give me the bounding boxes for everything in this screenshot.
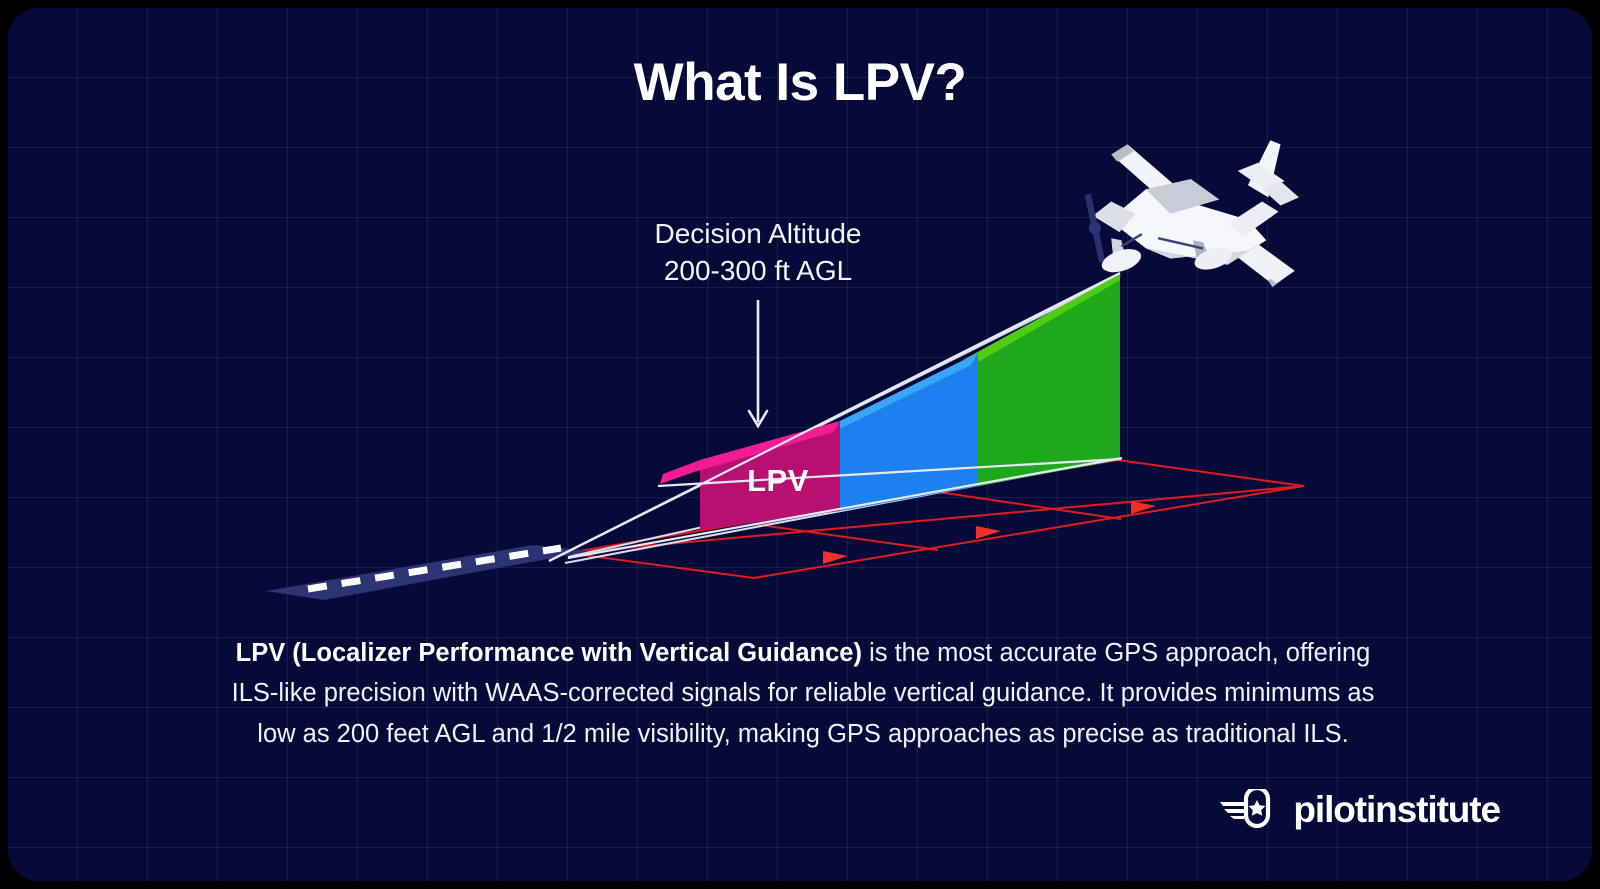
brand-logo-text: pilotinstitute [1293,791,1500,828]
screenshot-canvas: What Is LPV? Decision Altitude 200-300 f… [0,0,1600,889]
down-arrow-icon [749,300,767,426]
callout-line-2: 200-300 ft AGL [573,253,943,290]
wedge-edge-highlights [549,273,1122,561]
brand-logo[interactable]: pilotinstitute [1220,789,1500,829]
decision-altitude-callout: Decision Altitude 200-300 ft AGL [573,216,943,290]
page-title: What Is LPV? [8,54,1592,112]
airplane-icon [1085,140,1299,287]
wedge-segment-blue [833,353,978,511]
description-bold-lead: LPV (Localizer Performance with Vertical… [236,639,862,667]
description-paragraph: LPV (Localizer Performance with Vertical… [213,633,1393,754]
callout-line-1: Decision Altitude [573,216,943,253]
approach-guide-lines [549,274,1122,563]
infographic-board: What Is LPV? Decision Altitude 200-300 f… [8,8,1592,881]
ground-grid-arrows [823,501,1156,564]
wedge-label-lpv: LPV [708,463,848,499]
winged-star-badge-icon [1220,789,1282,829]
wedge-segment-green [963,274,1120,486]
runway [266,545,591,600]
ground-grid [568,460,1304,578]
